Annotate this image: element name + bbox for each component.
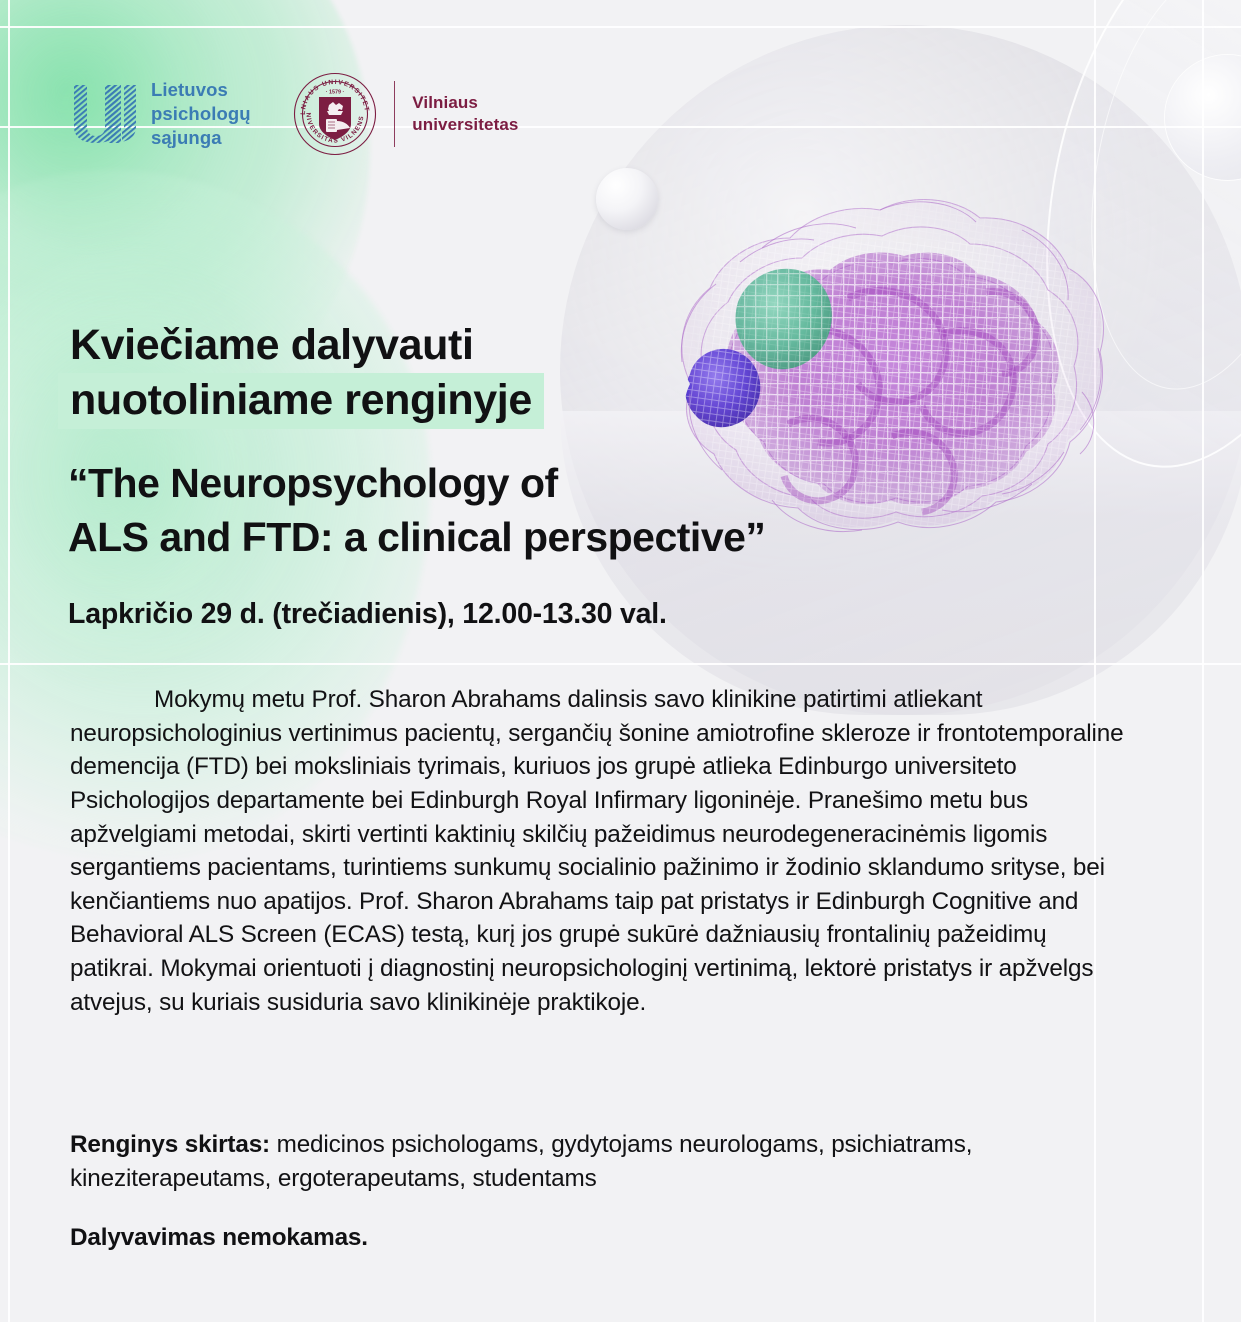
svg-text:· 1579 ·: · 1579 · xyxy=(325,90,344,96)
free-participation-note: Dalyvavimas nemokamas. xyxy=(70,1224,368,1252)
vu-logo-text: Vilniaus universitetas xyxy=(412,92,518,137)
event-description: Mokymų metu Prof. Sharon Abrahams dalins… xyxy=(70,683,1126,1019)
lps-logo-text: Lietuvos psichologų sąjunga xyxy=(151,78,251,150)
background-small-sphere xyxy=(1165,55,1241,180)
audience-line: Renginys skirtas: medicinos psichologams… xyxy=(70,1128,1130,1197)
event-title-line-1: “The Neuropsychology of xyxy=(68,456,908,510)
event-title: “The Neuropsychology of ALS and FTD: a c… xyxy=(68,456,908,564)
headline-line-2-highlighted: nuotoliniame renginyje xyxy=(70,373,532,428)
grid-line-v-1 xyxy=(8,0,10,1322)
headline: Kviečiame dalyvauti nuotoliniame renginy… xyxy=(70,318,690,429)
poster-canvas: Lietuvos psichologų sąjunga VILNIAUS UNI… xyxy=(0,0,1241,1322)
event-datetime: Lapkričio 29 d. (trečiadienis), 12.00-13… xyxy=(68,598,667,631)
lps-line-1: Lietuvos xyxy=(151,78,251,102)
audience-label: Renginys skirtas: xyxy=(70,1131,270,1158)
vu-logo: VILNIAUS UNIVERSITETAS UNIVERSITAS VILNE… xyxy=(293,72,519,156)
vu-logo-divider xyxy=(394,81,396,147)
logo-bar: Lietuvos psichologų sąjunga VILNIAUS UNI… xyxy=(72,72,518,156)
grid-line-h-1 xyxy=(0,26,1241,28)
lps-line-3: sąjunga xyxy=(151,126,251,150)
lps-line-2: psichologų xyxy=(151,102,251,126)
grid-line-v-3 xyxy=(1202,0,1204,1322)
vu-line-2: universitetas xyxy=(412,114,518,136)
headline-line-1: Kviečiame dalyvauti xyxy=(70,318,690,373)
grid-line-h-3 xyxy=(0,663,1241,665)
event-title-line-2: ALS and FTD: a clinical perspective” xyxy=(68,510,908,564)
lps-logo: Lietuvos psichologų sąjunga xyxy=(72,78,251,150)
vilnius-university-seal-icon: VILNIAUS UNIVERSITETAS UNIVERSITAS VILNE… xyxy=(293,72,377,156)
lps-wave-monogram-icon xyxy=(72,83,138,145)
vu-line-1: Vilniaus xyxy=(412,92,518,114)
